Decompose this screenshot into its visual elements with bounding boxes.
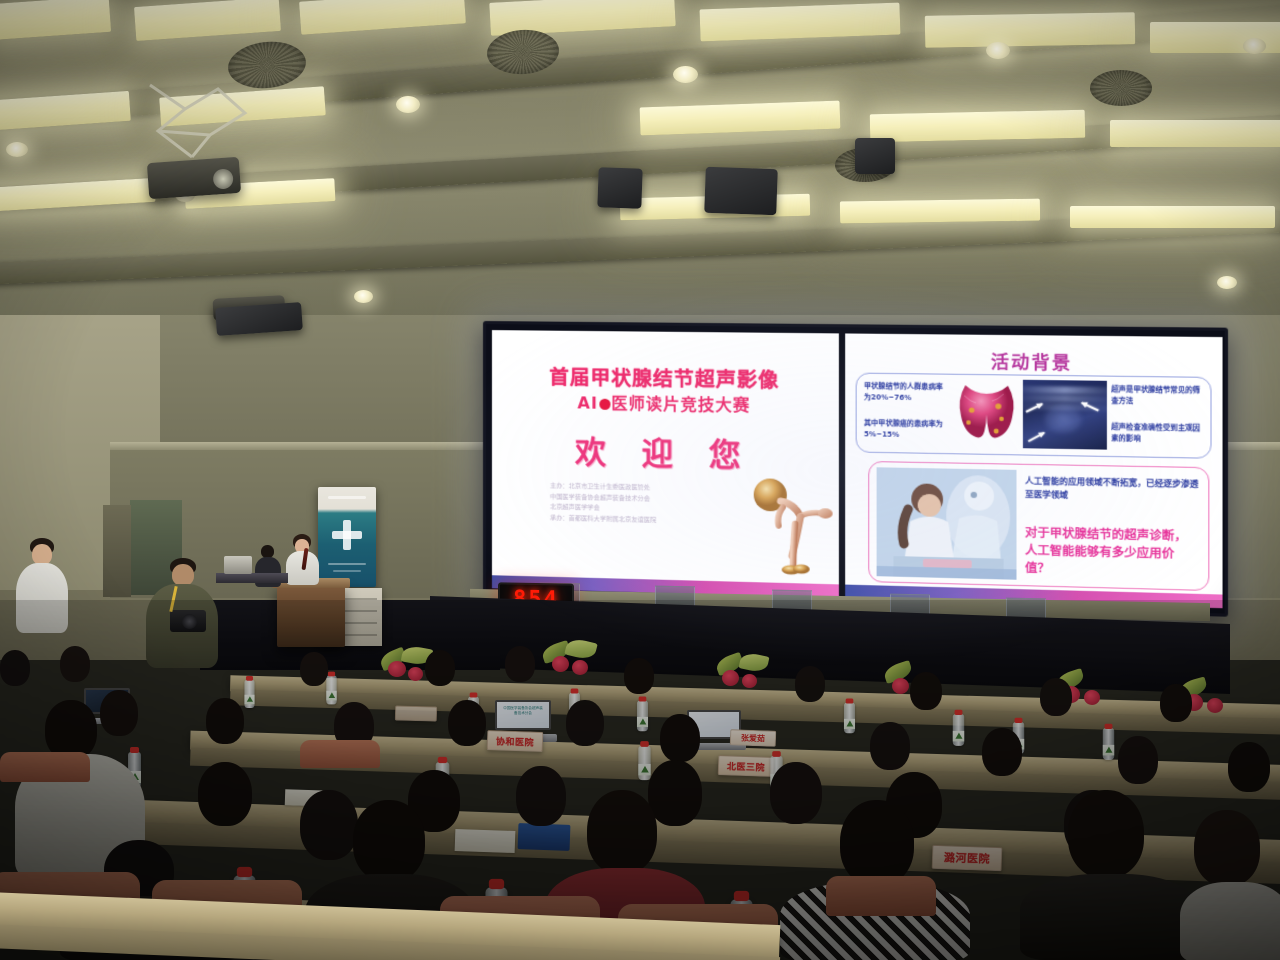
audience-head <box>300 652 328 686</box>
audience-head <box>1118 736 1158 784</box>
banner-bottom-line <box>333 570 361 572</box>
audience-head <box>1068 790 1144 878</box>
audience-head <box>795 666 825 702</box>
laptop-screen-text: 中国医学装备协会超声装备技术分会 <box>502 706 544 726</box>
roll-up-banner <box>318 487 376 587</box>
camera-lens-icon <box>182 614 197 629</box>
audience-head <box>1228 742 1270 792</box>
ceiling-truss <box>140 75 270 170</box>
ceiling-downlight <box>986 42 1010 59</box>
water-bottle <box>637 701 648 732</box>
audience-head <box>1040 678 1072 716</box>
audience-head <box>982 728 1022 776</box>
wall-speaker <box>215 302 303 336</box>
water-bottle <box>1103 728 1114 760</box>
water-bottle <box>953 714 964 746</box>
projection-screen: 首届甲状腺结节超声影像 AI医师读片竞技大赛 欢 迎 您 主办：北京市卫生计生委… <box>483 321 1228 617</box>
doctor-robot-photo <box>877 467 1017 579</box>
wall-speaker <box>855 138 895 174</box>
nametag-label: 张爱茹 <box>741 732 765 744</box>
placard-label <box>415 710 418 717</box>
audience-head <box>870 722 910 770</box>
flower-arrangement <box>712 652 774 704</box>
audience-member-foreground <box>1020 790 1200 960</box>
ceiling-light <box>870 110 1086 142</box>
audience-head <box>353 800 425 882</box>
photographer-head <box>172 564 194 586</box>
audience-head <box>45 700 97 760</box>
audience-member-foreground <box>1180 810 1280 960</box>
audience-head <box>660 714 700 762</box>
ceiling-projector <box>147 157 241 199</box>
standing-doctor-labcoat <box>10 538 76 633</box>
slide-right-title: 活动背景 <box>845 346 1222 376</box>
ceiling-light <box>925 12 1136 48</box>
ceiling-downlight <box>1217 276 1237 289</box>
side-door <box>103 505 131 597</box>
audience-head <box>1194 810 1260 886</box>
ceiling-vent <box>1090 70 1152 106</box>
audience-head <box>910 672 942 710</box>
slide-left-fine-print: 主办：北京市卫生计生委医政医管处 中国医学装备协会超声装备技术分会 北京超声医学… <box>550 481 769 528</box>
table-placard-xiehe: 协和医院 <box>487 730 544 752</box>
slide-left-title-line2: AI医师读片竞技大赛 <box>492 388 839 417</box>
water-bottle <box>244 680 254 708</box>
water-bottle <box>844 703 855 734</box>
audience-torso <box>1180 882 1280 960</box>
seat-back <box>0 752 90 782</box>
stat-left-1: 甲状腺结节的人群患病率为20%~76% <box>864 381 944 404</box>
ceiling-light <box>1110 120 1280 147</box>
seat-back <box>826 876 936 916</box>
audience-head <box>206 698 244 744</box>
bowing-mascot-icon <box>743 470 832 584</box>
red-dot-icon <box>599 399 610 410</box>
ceiling-downlight <box>1243 38 1266 54</box>
audience-head <box>198 762 252 826</box>
audience-head <box>840 800 914 886</box>
table-placard-beiyisanyuan: 北医三院 <box>718 755 775 777</box>
placard-label: 北医三院 <box>727 759 765 773</box>
stat-left-2: 其中甲状腺癌的患病率为5%~15% <box>864 418 944 441</box>
audience-head <box>566 700 604 746</box>
flower-arrangement <box>540 640 602 692</box>
water-bottle <box>638 746 650 780</box>
audience-head <box>448 700 486 746</box>
audience-head <box>624 658 654 694</box>
lectern <box>277 585 345 647</box>
audience-head <box>1160 684 1192 722</box>
doctor-head <box>32 544 52 565</box>
audience-head <box>425 650 455 686</box>
slide-left: 首届甲状腺结节超声影像 AI医师读片竞技大赛 欢 迎 您 主办：北京市卫生计生委… <box>492 330 839 598</box>
ai-body-text: 人工智能的应用领域不断拓宽，已经逐步渗透至医学领域 <box>1025 474 1198 505</box>
ceiling-light <box>1070 206 1275 228</box>
wall-speaker <box>704 167 778 215</box>
thyroid-gland-illustration <box>950 379 1018 448</box>
water-bottle <box>326 676 336 705</box>
slide-right: 活动背景 甲状腺结节的人群患病率为20%~76% 其中甲状腺癌的患病率为5%~1… <box>845 333 1222 608</box>
audience-head <box>0 650 30 686</box>
equipment-box <box>224 556 252 574</box>
ai-highlight-text: 对于甲状腺结节的超声诊断，人工智能能够有多少应用价值？ <box>1025 524 1198 581</box>
wall-speaker <box>597 167 642 209</box>
ultrasound-image <box>1023 380 1107 450</box>
ceiling-downlight <box>396 96 420 113</box>
side-table <box>216 573 288 583</box>
slide-left-title-ai: AI <box>577 393 598 412</box>
slide-left-welcome: 欢 迎 您 <box>492 425 839 477</box>
audience-torso <box>1020 874 1200 960</box>
stat-right-1: 超声是甲状腺结节常见的筛查方法 <box>1111 384 1205 407</box>
audience-head <box>505 646 535 682</box>
stat-right-2: 超声检查准确性受到主观因素的影响 <box>1111 422 1205 445</box>
ceiling-downlight <box>673 66 698 83</box>
annotation-arrow-icon <box>1028 432 1045 442</box>
table-placard-far-left <box>395 705 437 721</box>
slide-left-title-rest: 医师读片竞技大赛 <box>611 394 750 415</box>
name-card: 张爱茹 <box>730 729 777 747</box>
medical-cross-icon <box>332 520 362 550</box>
banner-bottom-line <box>328 563 365 565</box>
ceiling-downlight <box>6 142 28 157</box>
placard-label: 协和医院 <box>496 734 534 748</box>
banner-top-line <box>328 496 365 499</box>
conference-hall-photo: 首届甲状腺结节超声影像 AI医师读片竞技大赛 欢 迎 您 主办：北京市卫生计生委… <box>0 0 1280 960</box>
audience-head <box>60 646 90 682</box>
audience-head <box>587 790 657 874</box>
projector-lens <box>212 168 233 189</box>
ceiling-light <box>840 199 1040 224</box>
seat-back <box>300 740 380 768</box>
doctor-labcoat <box>16 563 68 633</box>
ceiling-downlight <box>354 290 373 303</box>
